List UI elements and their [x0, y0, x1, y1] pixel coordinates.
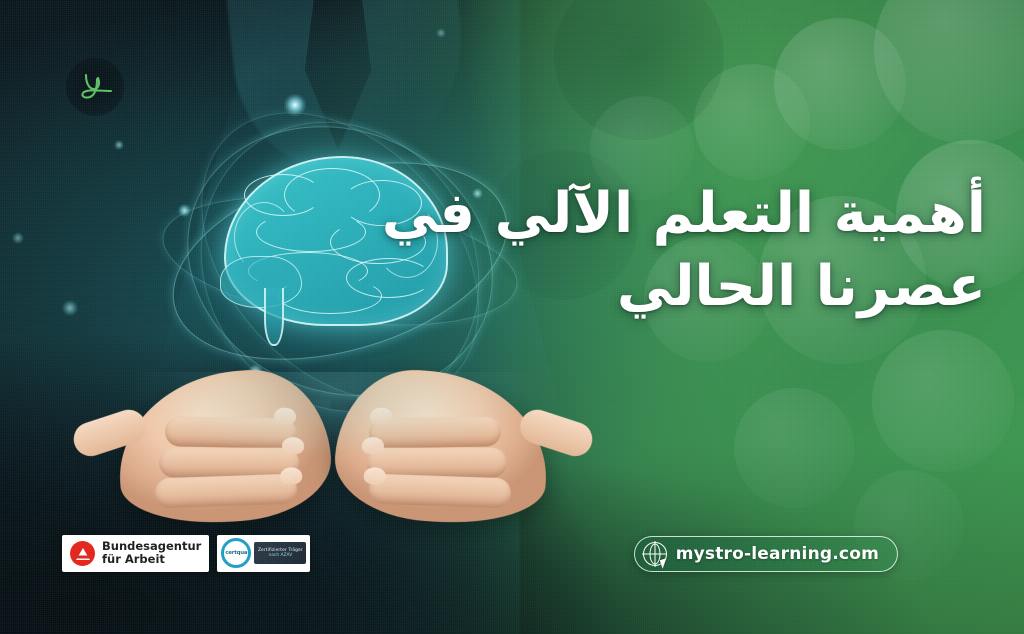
certification-label: Zertifizierter Träger nach AZAV	[254, 542, 306, 564]
particle	[62, 300, 78, 316]
bundesagentur-line-2: für Arbeit	[102, 553, 201, 567]
particle	[284, 94, 306, 116]
credential-bundesagentur[interactable]: Bundesagentur für Arbeit	[62, 535, 209, 572]
seal-text: certqua	[225, 550, 247, 556]
particle	[114, 140, 124, 150]
certification-seal-icon: certqua	[221, 538, 251, 568]
headline-line-1: أهمية التعلم الآلي في	[382, 181, 986, 246]
bundesagentur-line-1: Bundesagentur	[102, 540, 201, 554]
accreditation-badges: Bundesagentur für Arbeit certqua Zertifi…	[62, 535, 310, 572]
credential-certqua[interactable]: certqua Zertifizierter Träger nach AZAV	[217, 535, 310, 572]
cursor-arrow-icon	[659, 558, 668, 569]
particle	[178, 204, 191, 217]
right-hand	[331, 365, 553, 529]
bundesagentur-logo-icon	[70, 541, 95, 566]
globe-meridian	[649, 544, 660, 565]
particle	[12, 232, 24, 244]
brand-logo[interactable]	[66, 58, 124, 116]
website-badge[interactable]: mystro-learning.com	[634, 536, 898, 572]
left-hand	[113, 365, 335, 529]
bundesagentur-label: Bundesagentur für Arbeit	[102, 540, 201, 567]
script-signature-logo	[75, 70, 115, 104]
cert-line-2: nach AZAV	[268, 554, 292, 558]
banner-stage: أهمية التعلم الآلي في عصرنا الحالي Bunde…	[0, 0, 1024, 634]
website-url-text: mystro-learning.com	[676, 544, 879, 564]
globe-cursor-icon	[643, 542, 667, 566]
page-title: أهمية التعلم الآلي في عصرنا الحالي	[266, 178, 986, 324]
headline-line-2: عصرنا الحالي	[266, 251, 986, 324]
particle	[436, 28, 446, 38]
cupped-hands	[118, 372, 548, 532]
